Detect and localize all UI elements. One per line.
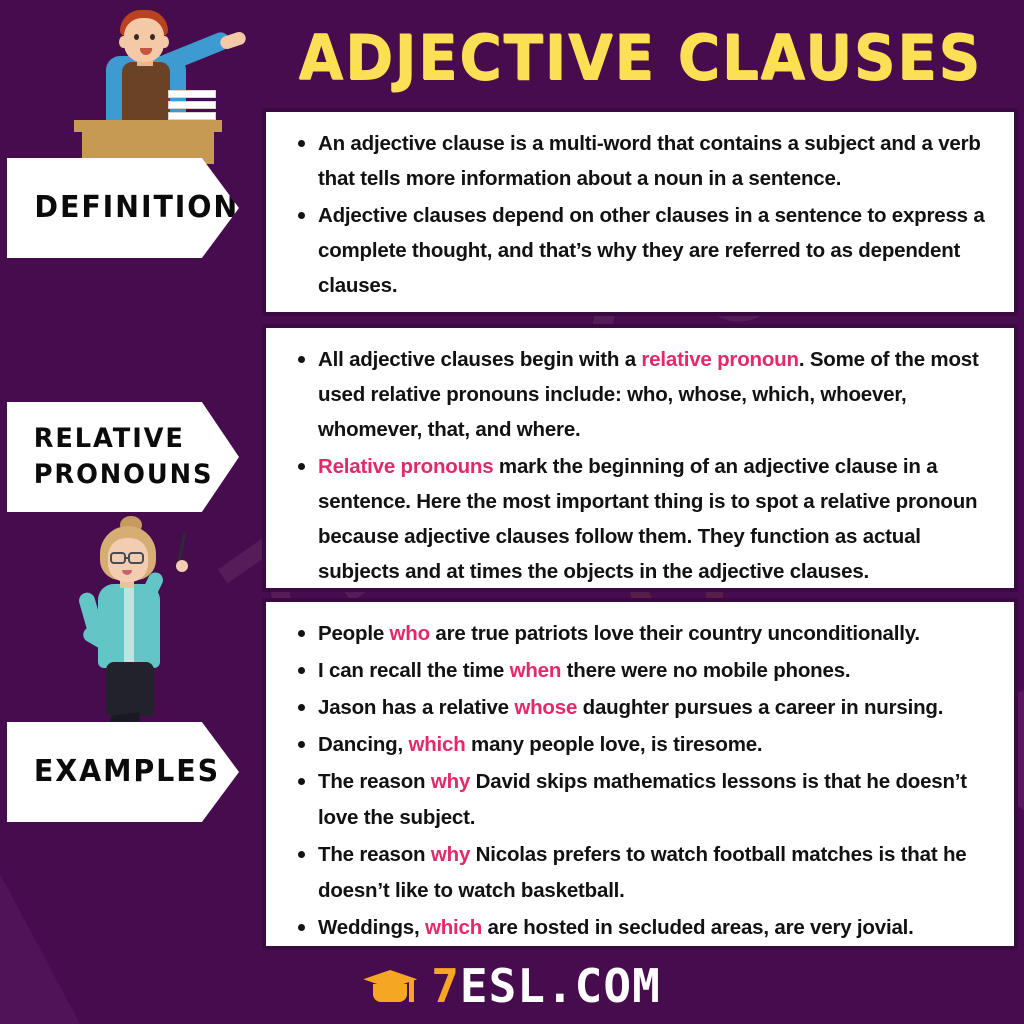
highlighted-term: relative pronoun — [641, 348, 798, 371]
graduation-cap-icon — [363, 968, 417, 1004]
body-text: An adjective clause is a multi-word that… — [318, 132, 981, 190]
footer-logo[interactable]: 7ESL.COM — [0, 955, 1024, 1017]
list-item: All adjective clauses begin with a relat… — [318, 342, 996, 447]
glasses-icon — [110, 552, 126, 564]
highlighted-term: when — [510, 659, 562, 682]
highlighted-term: why — [431, 770, 470, 793]
body-text: are true patriots love their country unc… — [430, 622, 920, 645]
body-text: daughter pursues a career in nursing. — [577, 696, 943, 719]
highlighted-term: who — [390, 622, 430, 645]
body-text: there were no mobile phones. — [561, 659, 850, 682]
body-text: All adjective clauses begin with a — [318, 348, 641, 371]
list-item: Weddings, which are hosted in secluded a… — [318, 910, 996, 946]
list-item: People who are true patriots love their … — [318, 616, 996, 652]
highlighted-term: which — [425, 916, 482, 939]
banner-label-relative: RELATIVE — [34, 421, 214, 457]
bullet-list-definition: An adjective clause is a multi-word that… — [292, 126, 996, 303]
bullet-list-relative-pronouns: All adjective clauses begin with a relat… — [292, 342, 996, 589]
body-text: Weddings, — [318, 916, 425, 939]
body-text: The reason — [318, 843, 431, 866]
list-item: An adjective clause is a multi-word that… — [318, 126, 996, 196]
female-teacher-illustration — [72, 516, 202, 728]
banner-label-definition: DEFINITION — [34, 190, 239, 226]
books-stack-icon — [168, 90, 216, 120]
body-text: Adjective clauses depend on other clause… — [318, 204, 985, 297]
body-text: Dancing, — [318, 733, 408, 756]
highlighted-term: which — [408, 733, 465, 756]
bullet-list-examples: People who are true patriots love their … — [292, 616, 996, 946]
list-item: Dancing, which many people love, is tire… — [318, 727, 996, 763]
section-banner-examples: EXAMPLES — [7, 722, 239, 822]
body-text: Jason has a relative — [318, 696, 514, 719]
list-item: The reason why Nicolas prefers to watch … — [318, 837, 996, 909]
body-text: People — [318, 622, 390, 645]
list-item: Adjective clauses depend on other clause… — [318, 198, 996, 303]
list-item: I can recall the time when there were no… — [318, 653, 996, 689]
highlighted-term: why — [431, 843, 470, 866]
logo-seven: 7 — [431, 959, 460, 1013]
section-banner-relative-pronouns: RELATIVE PRONOUNS — [7, 402, 239, 512]
body-text: are hosted in secluded areas, are very j… — [482, 916, 914, 939]
list-item: Relative pronouns mark the beginning of … — [318, 449, 996, 589]
page-title: ADJECTIVE CLAUSES — [288, 14, 991, 100]
banner-label-examples: EXAMPLES — [34, 754, 220, 790]
body-text: many people love, is tiresome. — [466, 733, 763, 756]
highlighted-term: whose — [514, 696, 577, 719]
banner-label-pronouns: PRONOUNS — [34, 457, 214, 493]
body-text: The reason — [318, 770, 431, 793]
male-teacher-illustration — [60, 4, 230, 160]
logo-domain: ESL.COM — [460, 959, 661, 1013]
content-box-examples: People who are true patriots love their … — [262, 598, 1018, 950]
highlighted-term: Relative pronouns — [318, 455, 493, 478]
list-item: Jason has a relative whose daughter purs… — [318, 690, 996, 726]
section-banner-definition: DEFINITION — [7, 158, 239, 258]
body-text: I can recall the time — [318, 659, 510, 682]
list-item: The reason why David skips mathematics l… — [318, 764, 996, 836]
content-box-definition: An adjective clause is a multi-word that… — [262, 108, 1018, 316]
content-box-relative-pronouns: All adjective clauses begin with a relat… — [262, 324, 1018, 592]
